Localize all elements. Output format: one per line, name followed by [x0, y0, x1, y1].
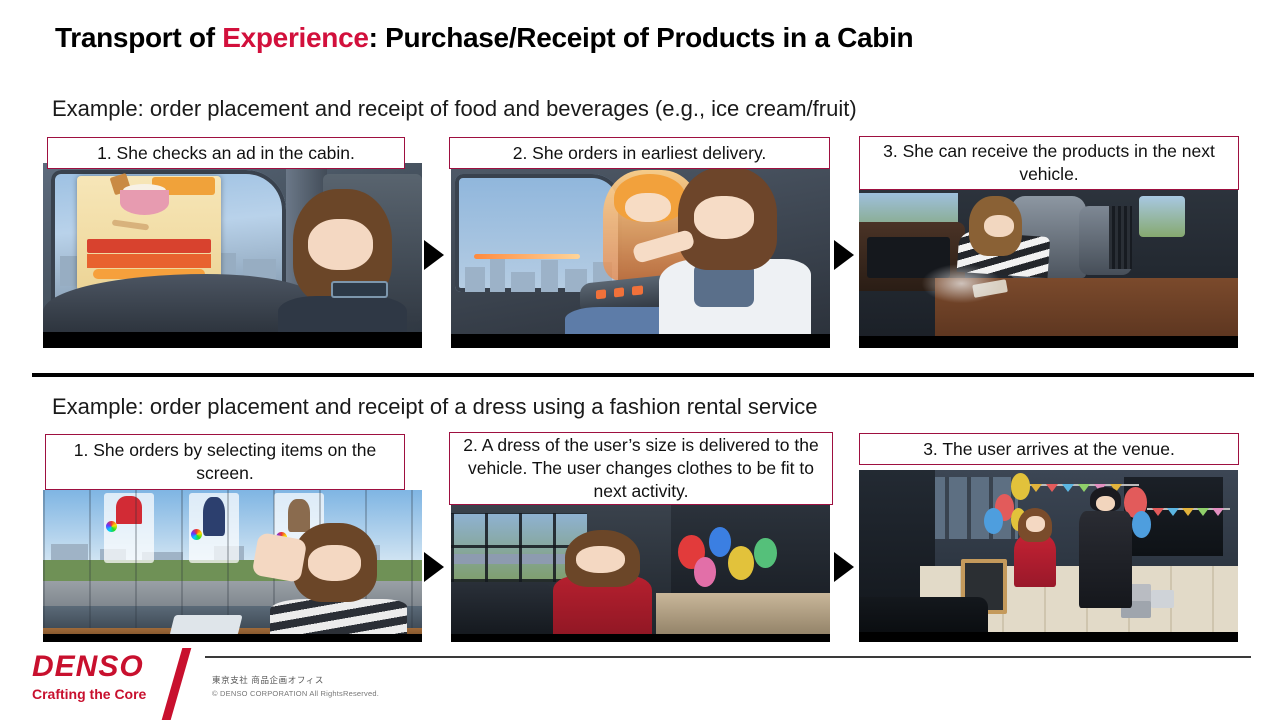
footer-office: 東京支社 商品企画オフィス [212, 674, 324, 686]
scene-image-2-3 [859, 470, 1238, 642]
footer-copyright: © DENSO CORPORATION All RightsReserved. [212, 689, 379, 698]
section-heading-1: Example: order placement and receipt of … [52, 96, 857, 122]
title-highlight: Experience [222, 22, 368, 53]
flow-arrow-2-2 [834, 552, 854, 582]
tablet-device [331, 281, 388, 298]
scene-art [451, 505, 830, 642]
scene-art [43, 163, 422, 348]
scene-art [451, 163, 830, 348]
step-caption-1-3: 3. She can receive the products in the n… [859, 136, 1239, 190]
scene-image-1-2 [451, 163, 830, 348]
scene-image-1-3 [859, 190, 1238, 348]
flow-arrow-1-1 [424, 240, 444, 270]
denso-logo: DENSO Crafting the Core [32, 652, 146, 702]
page-title: Transport of Experience: Purchase/Receip… [55, 22, 913, 54]
step-caption-1-1: 1. She checks an ad in the cabin. [47, 137, 405, 169]
scene-image-2-1 [43, 490, 422, 642]
flow-arrow-2-1 [424, 552, 444, 582]
tablet-screen[interactable] [169, 615, 243, 636]
footer-rule [205, 656, 1251, 658]
step-caption-2-1: 1. She orders by selecting items on the … [45, 434, 405, 490]
scene-art [43, 490, 422, 642]
brand-tagline: Crafting the Core [32, 686, 146, 702]
brand-name: DENSO [32, 652, 146, 682]
scene-art [859, 190, 1238, 348]
slide-root: Transport of Experience: Purchase/Receip… [0, 0, 1281, 721]
scene-image-2-2 [451, 505, 830, 642]
scene-image-1-1 [43, 163, 422, 348]
flow-arrow-1-2 [834, 240, 854, 270]
step-caption-2-2: 2. A dress of the user’s size is deliver… [449, 432, 833, 505]
section-divider [32, 373, 1254, 377]
step-caption-1-2: 2. She orders in earliest delivery. [449, 137, 830, 169]
section-heading-2: Example: order placement and receipt of … [52, 394, 818, 420]
scene-art [859, 470, 1238, 642]
steam-effect [920, 263, 1003, 304]
step-caption-2-3: 3. The user arrives at the venue. [859, 433, 1239, 465]
logo-slash-divider [162, 648, 192, 720]
title-prefix: Transport of [55, 22, 222, 53]
title-suffix: : Purchase/Receipt of Products in a Cabi… [369, 22, 914, 53]
